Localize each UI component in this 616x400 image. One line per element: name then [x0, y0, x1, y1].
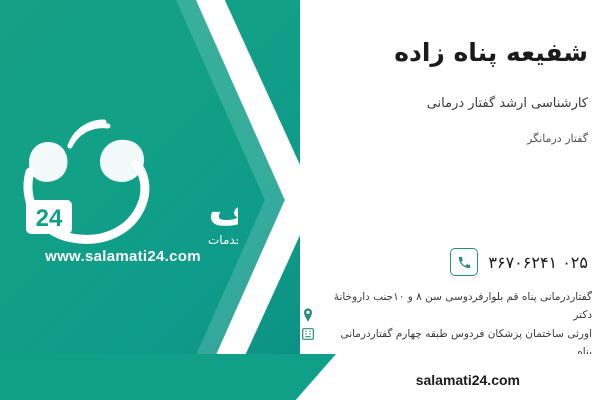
location-pin-icon: [300, 307, 316, 323]
address-row: گفتاردرمانی پناه قم بلوارفردوسی سن ۸ و ۱…: [300, 288, 592, 362]
logo-website-url: www.salamati24.com: [8, 248, 238, 265]
logo-artwork: سلامتی 24 براحتی یک کلیک خدمات: [8, 108, 238, 258]
bottom-teal-shape: [0, 354, 336, 400]
person-name: شفیعه پناه زاده: [394, 38, 588, 67]
logo-badge-number: 24: [36, 205, 63, 232]
brand-logo: سلامتی 24 براحتی یک کلیک خدمات: [8, 108, 238, 268]
bottom-bar: salamati24.com: [0, 354, 616, 400]
job-title: گفتار درمانگر: [527, 132, 588, 145]
card-content: شفیعه پناه زاده کارشناسی ارشد گفتار درما…: [300, 0, 616, 400]
address-line-1: گفتاردرمانی پناه قم بلوارفردوسی سن ۸ و ۱…: [324, 288, 592, 325]
phone-number: ۳۶۷۰۶۲۴۱ ۰۲۵: [488, 253, 588, 272]
phone-icon: [450, 248, 478, 276]
phone-row: ۳۶۷۰۶۲۴۱ ۰۲۵: [450, 248, 588, 276]
logo-tagline: براحتی یک کلیک خدمات: [208, 233, 238, 248]
building-icon: [300, 326, 316, 342]
bottom-website: salamati24.com: [416, 372, 520, 388]
address-icon-group: [300, 307, 316, 342]
credential-text: کارشناسی ارشد گفتار درمانی: [427, 96, 588, 111]
address-text: گفتاردرمانی پناه قم بلوارفردوسی سن ۸ و ۱…: [324, 288, 592, 362]
logo-brand-text: سلامتی: [208, 177, 238, 231]
business-card: سلامتی 24 براحتی یک کلیک خدمات www.salam…: [0, 0, 616, 400]
